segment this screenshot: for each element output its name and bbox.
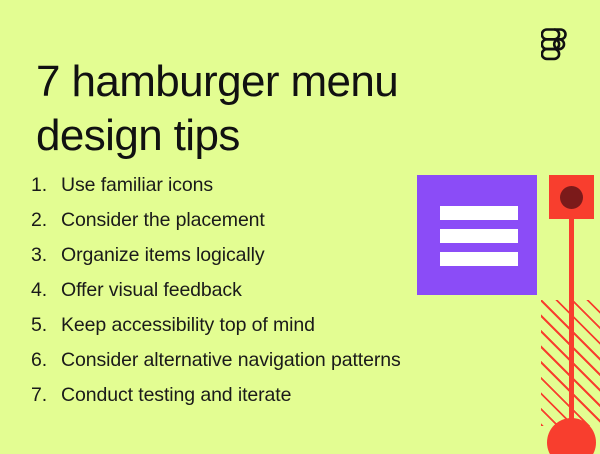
list-item-number: 6. xyxy=(31,349,61,372)
list-item-label: Consider the placement xyxy=(61,209,265,232)
tips-list: 1. Use familiar icons 2. Consider the pl… xyxy=(31,174,401,419)
list-item: 7. Conduct testing and iterate xyxy=(31,384,401,419)
hamburger-bar-bottom xyxy=(440,252,518,266)
list-item-number: 7. xyxy=(31,384,61,407)
list-item-number: 5. xyxy=(31,314,61,337)
pin-dot-icon xyxy=(560,186,583,209)
list-item-number: 2. xyxy=(31,209,61,232)
hamburger-bar-top xyxy=(440,206,518,220)
pin-head-square xyxy=(549,175,594,219)
list-item-label: Conduct testing and iterate xyxy=(61,384,291,407)
page-title: 7 hamburger menu design tips xyxy=(36,55,506,162)
list-item: 4. Offer visual feedback xyxy=(31,279,401,314)
list-item: 5. Keep accessibility top of mind xyxy=(31,314,401,349)
list-item-number: 4. xyxy=(31,279,61,302)
list-item-label: Organize items logically xyxy=(61,244,265,267)
hamburger-bar-middle xyxy=(440,229,518,243)
list-item: 3. Organize items logically xyxy=(31,244,401,279)
slide-canvas: 7 hamburger menu design tips 1. Use fami… xyxy=(0,0,600,454)
list-item-label: Keep accessibility top of mind xyxy=(61,314,315,337)
figma-logo-icon xyxy=(541,28,571,64)
list-item-number: 1. xyxy=(31,174,61,197)
list-item: 2. Consider the placement xyxy=(31,209,401,244)
list-item-label: Consider alternative navigation patterns xyxy=(61,349,401,372)
list-item-label: Use familiar icons xyxy=(61,174,213,197)
hamburger-menu-icon xyxy=(417,175,537,295)
list-item: 1. Use familiar icons xyxy=(31,174,401,209)
list-item-label: Offer visual feedback xyxy=(61,279,242,302)
list-item: 6. Consider alternative navigation patte… xyxy=(31,349,401,384)
list-item-number: 3. xyxy=(31,244,61,267)
